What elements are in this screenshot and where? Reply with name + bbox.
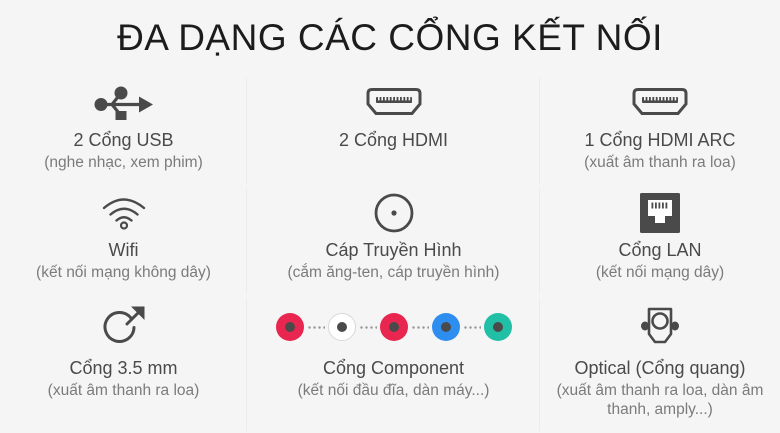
port-cell-audio-jack: Cổng 3.5 mm (xuất âm thanh ra loa) [0,296,247,433]
port-sublabel: (xuất âm thanh ra loa) [48,381,200,400]
port-cell-component: Cổng Component (kết nối đầu đĩa, dàn máy… [247,296,540,433]
port-cell-hdmi: 2 Cổng HDMI [247,76,540,186]
port-label: 2 Cổng USB [73,129,173,152]
red-rca-connector [380,313,408,341]
wifi-icon [100,190,148,236]
ports-grid: 2 Cổng USB (nghe nhạc, xem phim) [0,76,780,433]
port-cell-hdmi-arc: 1 Cổng HDMI ARC (xuất âm thanh ra loa) [540,76,780,186]
white-rca-connector [328,313,356,341]
rca-pin [441,322,451,332]
port-label: Wifi [109,239,139,262]
hdmi-arc-port-icon [628,80,692,126]
coaxial-antenna-icon [372,190,416,236]
lan-rj45-icon [639,190,681,236]
red-rca-connector [276,313,304,341]
hdmi-port-icon [362,80,426,126]
port-sublabel: (cắm ăng-ten, cáp truyền hình) [288,263,500,282]
rca-pin [337,322,347,332]
page-title: ĐA DẠNG CÁC CỔNG KẾT NỐI [0,0,780,56]
rca-pin [493,322,503,332]
port-label: Cổng 3.5 mm [69,357,177,380]
port-sublabel: (kết nối đầu đĩa, dàn máy...) [298,381,490,400]
cable-dots [463,326,481,329]
usb-icon [94,80,154,126]
port-cell-lan: Cổng LAN (kết nối mạng dây) [540,186,780,296]
optical-toslink-icon [636,300,684,354]
rca-connector-row [276,313,512,341]
port-cell-optical: Optical (Cổng quang) (xuất âm thanh ra l… [540,296,780,433]
rca-pin [389,322,399,332]
cable-dots [307,326,325,329]
port-sublabel: (kết nối mạng không dây) [36,263,211,282]
port-cell-coaxial: Cáp Truyền Hình (cắm ăng-ten, cáp truyền… [247,186,540,296]
port-label: 1 Cổng HDMI ARC [584,129,735,152]
port-label: Cổng LAN [618,239,701,262]
cable-dots [359,326,377,329]
cable-dots [411,326,429,329]
component-rca-icon [276,300,512,354]
port-sublabel: (nghe nhạc, xem phim) [44,153,203,172]
audio-jack-arrow-icon [100,300,148,354]
port-cell-usb: 2 Cổng USB (nghe nhạc, xem phim) [0,76,247,186]
port-sublabel: (kết nối mạng dây) [596,263,724,282]
rca-pin [285,322,295,332]
port-label: Optical (Cổng quang) [574,357,745,380]
port-sublabel: (xuất âm thanh ra loa, dàn âm thanh, amp… [545,381,775,420]
port-sublabel: (xuất âm thanh ra loa) [584,153,736,172]
green-rca-connector [484,313,512,341]
blue-rca-connector [432,313,460,341]
connectivity-infographic: ĐA DẠNG CÁC CỔNG KẾT NỐI 2 Cổng USB (ngh… [0,0,780,433]
port-cell-wifi: Wifi (kết nối mạng không dây) [0,186,247,296]
port-label: Cáp Truyền Hình [325,239,461,262]
port-label: Cổng Component [323,357,464,380]
port-label: 2 Cổng HDMI [339,129,448,152]
